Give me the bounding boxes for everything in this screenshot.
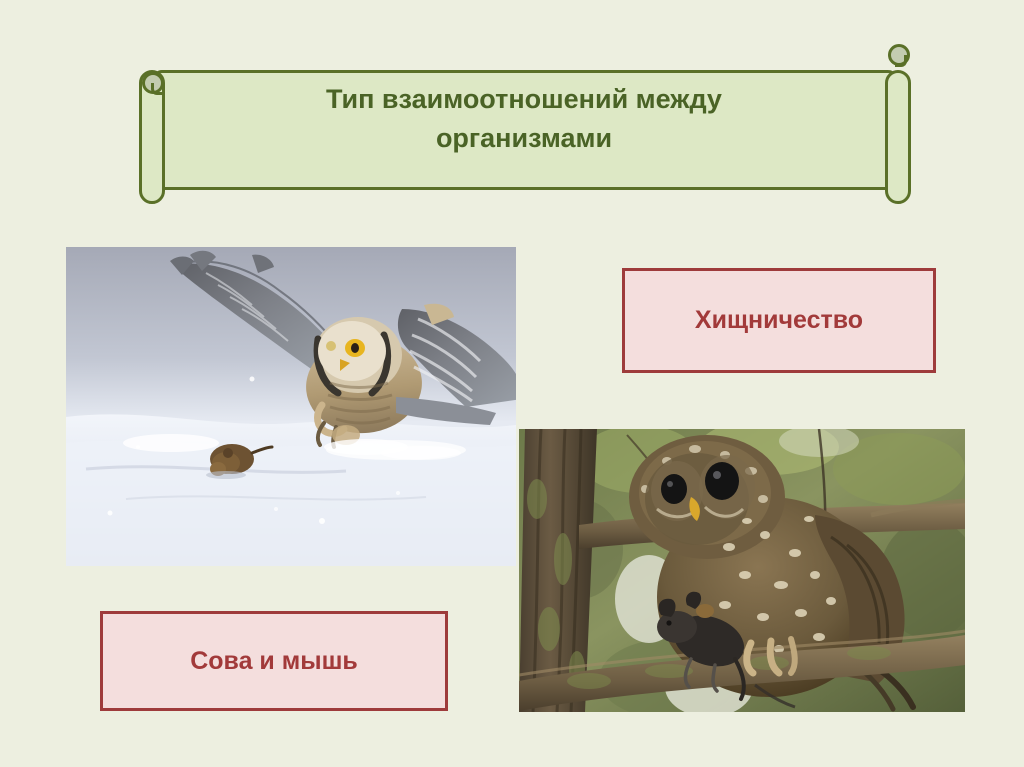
slide-title: Тип взаимоотношений между организмами [179,80,869,158]
label-text-owl-and-mouse: Сова и мышь [190,647,358,676]
label-text-predation: Хищничество [695,306,863,335]
photo-owl-in-flight [66,247,516,566]
owl-branch-illustration [519,429,965,712]
label-box-predation[interactable]: Хищничество [622,268,936,373]
label-box-owl-and-mouse[interactable]: Сова и мышь [100,611,448,711]
scroll-right-curl-knob-icon [888,44,910,66]
owl-flight-illustration [66,247,516,566]
scroll-right-curl [885,70,911,204]
photo-owl-on-branch [519,429,965,712]
scroll-left-curl-knob-icon [142,72,164,94]
title-banner: Тип взаимоотношений между организмами [139,44,911,204]
